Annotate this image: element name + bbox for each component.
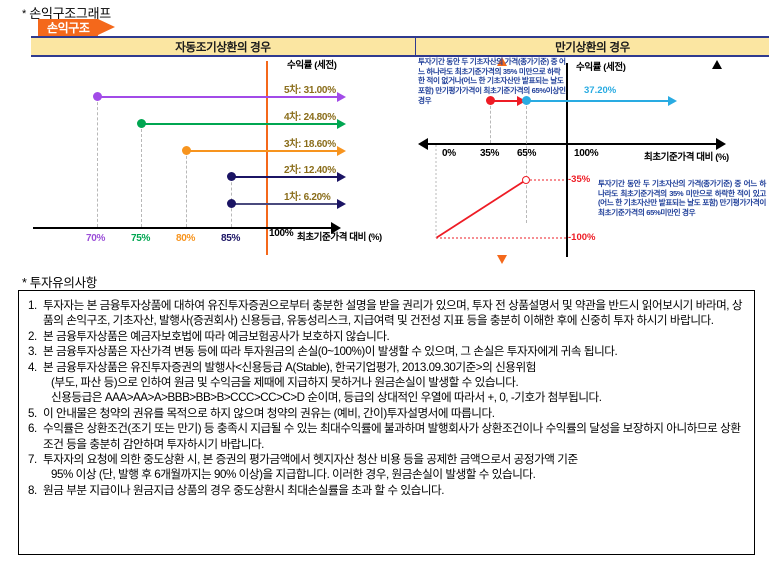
payoff-line-2 [231,176,337,178]
x-tick-70: 70% [86,233,105,244]
note-downside: 투자기간 동안 두 기초자산의 가격(종가기준) 중 어느 하나라도 최초기준가… [598,179,766,218]
notice-item-number: 1. [28,298,43,329]
notice-item-text: 본 금융투자상품은 자산가격 변동 등에 따라 투자원금의 손실(0~100%)… [43,344,747,359]
notice-box: 1.투자자는 본 금융투자상품에 대하여 유진투자증권으로부터 충분한 설명을 … [18,290,755,555]
notice-item-text: 본 금융투자상품은 유진투자증권의 발행사<신용등급 A(Stable), 한국… [43,360,747,406]
notice-item: 8.원금 부분 지급이나 원금지급 상품의 경우 중도상환시 최대손실률을 초과… [28,483,747,498]
notice-item-number: 2. [28,329,43,344]
x-tick-80: 80% [176,233,195,244]
notice-item-text: 투자자는 본 금융투자상품에 대하여 유진투자증권으로부터 충분한 설명을 받을… [43,298,747,329]
drop-line-75 [141,124,142,227]
x-tick-35: 35% [480,148,499,159]
notice-item-number: 4. [28,360,43,406]
panel-header-bar: 자동조기상환의 경우 만기상환의 경우 [31,36,769,57]
payoff-dot-5 [93,92,102,101]
payoff-dot-4 [137,119,146,128]
drop-line-70 [97,97,98,227]
notice-item-subtext: 95% 이상 (단, 발행 후 6개월까지는 90% 이상)을 지급합니다. 이… [43,467,747,482]
notice-title: * 투자유의사항 [22,272,97,291]
notice-item-text: 원금 부분 지급이나 원금지급 상품의 경우 중도상환시 최대손실률을 초과 할… [43,483,747,498]
upside-value-label: 37.20% [584,85,616,96]
notice-item: 3.본 금융투자상품은 자산가격 변동 등에 따라 투자원금의 손실(0~100… [28,344,747,359]
notice-item-text: 투자자의 요청에 의한 중도상환 시, 본 증권의 평가금액에서 헷지자산 청산… [43,452,747,483]
payoff-line-1 [231,203,337,205]
x-tick-100: 100% [574,148,598,159]
downside-payoff-line [436,180,526,238]
notice-item-text: 수익률은 상환조건(조기 또는 만기) 등 충족시 지급될 수 있는 최대수익률… [43,421,747,452]
y-tick-minus35: -35% [568,174,590,185]
chart-auto-early-redemption: 수익률 (세전) 최초기준가격 대비 (%) 5차: 31.00% 4차: 24… [31,57,415,257]
notice-item-number: 8. [28,483,43,498]
drop-line-35 [490,101,491,143]
notice-item: 6.수익률은 상환조건(조기 또는 만기) 등 충족시 지급될 수 있는 최대수… [28,421,747,452]
notice-item-text: 이 안내물은 청약의 권유를 목적으로 하지 않으며 청약의 권유는 (예비, … [43,406,747,421]
payoff-arrow-1 [337,199,346,209]
x-tick-0: 0% [442,148,456,159]
notice-item-number: 7. [28,452,43,483]
panel-title-maturity-redemption: 만기상환의 경우 [416,38,769,55]
payoff-open-circle-65 [522,176,530,184]
x-tick-100: 100% [269,228,293,239]
notice-item: 2.본 금융투자상품은 예금자보호법에 따라 예금보험공사가 보호하지 않습니다… [28,329,747,344]
payoff-line-upside [526,100,668,102]
payoff-label-1: 1차: 6.20% [284,188,331,203]
payoff-line-3 [186,150,337,152]
notice-title-text: 투자유의사항 [30,276,97,290]
y-axis-line [266,61,268,255]
title-marker: * [22,8,26,20]
payoff-arrow-3 [337,146,346,156]
payoff-dot-35 [486,96,495,105]
notice-item-text: 본 금융투자상품은 예금자보호법에 따라 예금보험공사가 보호하지 않습니다. [43,329,747,344]
section-banner: 손익구조 [38,19,115,36]
section-banner-label: 손익구조 [38,19,98,36]
notice-item: 1.투자자는 본 금융투자상품에 대하여 유진투자증권으로부터 충분한 설명을 … [28,298,747,329]
payoff-dot-1 [227,199,236,208]
drop-line-65 [526,101,527,223]
x-axis-arrow-left-icon [418,138,428,150]
y-axis-label: 수익률 (세전) [287,57,336,71]
notice-title-marker: * [22,276,27,290]
x-axis-label: 최초기준가격 대비 (%) [297,229,382,243]
notice-item-subtext: (부도, 파산 등)으로 인하여 원금 및 수익금을 제때에 지급하지 못하거나… [43,375,747,390]
x-tick-65: 65% [517,148,536,159]
drop-line-80 [186,151,187,227]
payoff-arrow-5 [337,92,346,102]
notice-item-number: 5. [28,406,43,421]
y-axis-arrow-up-icon [712,60,722,69]
x-tick-75: 75% [131,233,150,244]
y-axis-label: 수익률 (세전) [576,59,625,73]
payoff-dot-3 [182,146,191,155]
notice-item-subtext: 신용등급은 AAA>AA>A>BBB>BB>B>CCC>CC>C>D 순이며, … [43,390,747,405]
payoff-dot-2 [227,172,236,181]
notice-item-number: 6. [28,421,43,452]
notice-item-number: 3. [28,344,43,359]
y-tick-minus100: -100% [568,232,595,243]
notice-list: 1.투자자는 본 금융투자상품에 대하여 유진투자증권으로부터 충분한 설명을 … [28,298,747,498]
payoff-arrow-2 [337,172,346,182]
payoff-label-4: 4차: 24.80% [284,108,336,123]
banner-arrow-icon [98,19,115,35]
payoff-arrow-4 [337,119,346,129]
notice-item: 7.투자자의 요청에 의한 중도상환 시, 본 증권의 평가금액에서 헷지자산 … [28,452,747,483]
payoff-line-5 [97,96,337,98]
payoff-label-2: 2차: 12.40% [284,161,336,176]
payoff-label-5: 5차: 31.00% [284,81,336,96]
payoff-line-4 [141,123,337,125]
payoff-arrow-upside [668,96,677,106]
payoff-dot-65 [522,96,531,105]
notice-item: 4.본 금융투자상품은 유진투자증권의 발행사<신용등급 A(Stable), … [28,360,747,406]
x-axis-label: 최초기준가격 대비 (%) [644,149,729,163]
y-axis-line [566,63,568,257]
x-axis-line [428,143,718,145]
chart-maturity-redemption: 투자기간 동안 두 기초자산의 가격(종가기준) 중 어느 하나라도 최초기준가… [416,57,769,257]
x-tick-85: 85% [221,233,240,244]
payoff-label-3: 3차: 18.60% [284,135,336,150]
panel-title-auto-early-redemption: 자동조기상환의 경우 [31,38,416,55]
notice-item: 5.이 안내물은 청약의 권유를 목적으로 하지 않으며 청약의 권유는 (예비… [28,406,747,421]
